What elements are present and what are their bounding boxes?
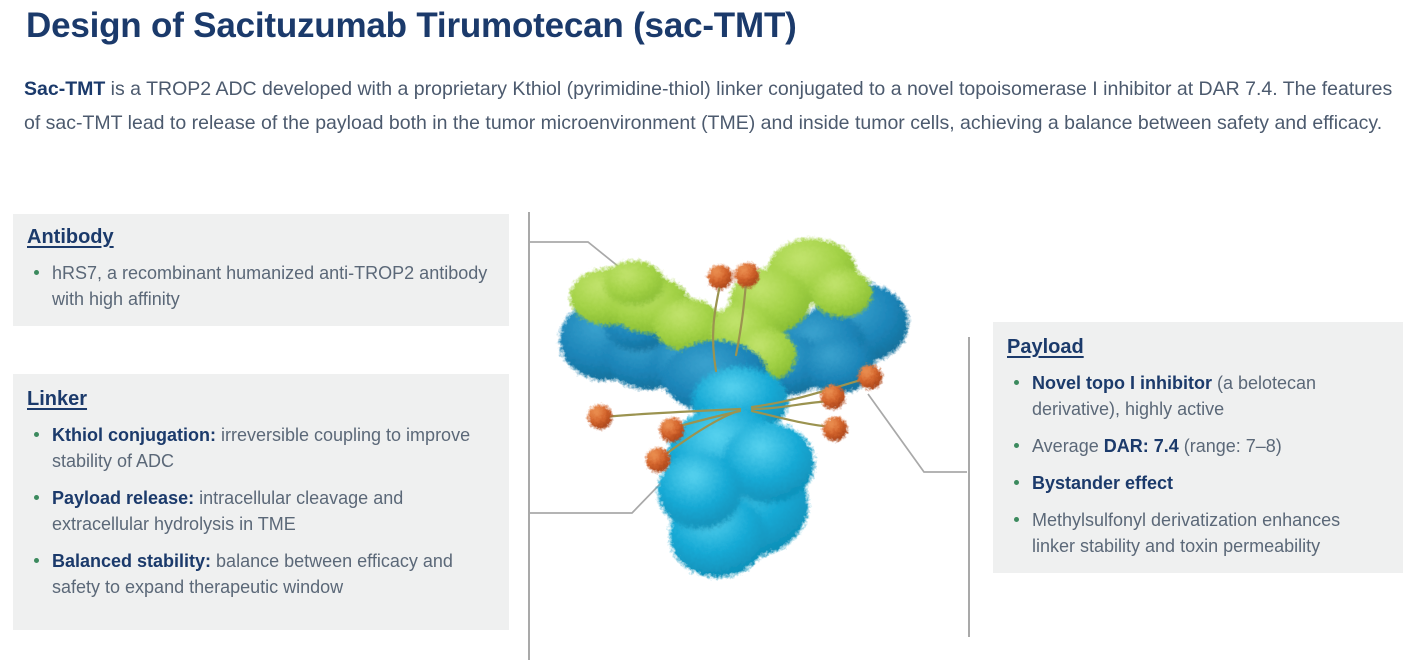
- payload-sphere: [646, 448, 670, 472]
- list-item: hRS7, a recombinant humanized anti-TROP2…: [27, 260, 491, 312]
- payload-info-box: Payload Novel topo I inhibitor (a belote…: [993, 322, 1403, 573]
- bullet-dot-icon: [1014, 480, 1019, 485]
- bullet-dot-icon: [1014, 443, 1019, 448]
- bullet-inline-term: DAR: 7.4: [1104, 436, 1179, 456]
- list-item: Average DAR: 7.4 (range: 7–8): [1007, 433, 1387, 459]
- antibody-bullet-list: hRS7, a recombinant humanized anti-TROP2…: [27, 260, 491, 312]
- bullet-text-suffix: (range: 7–8): [1179, 436, 1282, 456]
- page-title: Design of Sacituzumab Tirumotecan (sac-T…: [26, 6, 797, 46]
- list-item: Methylsulfonyl derivatization enhances l…: [1007, 507, 1387, 559]
- bullet-lead-term: Balanced stability:: [52, 551, 211, 571]
- linker-bullet-list: Kthiol conjugation: irreversible couplin…: [27, 422, 491, 600]
- list-item: Balanced stability: balance between effi…: [27, 548, 491, 600]
- intro-paragraph: Sac-TMT is a TROP2 ADC developed with a …: [24, 72, 1396, 140]
- list-item: Payload release: intracellular cleavage …: [27, 485, 491, 537]
- bullet-dot-icon: [1014, 517, 1019, 522]
- bullet-text: hRS7, a recombinant humanized anti-TROP2…: [52, 263, 487, 309]
- bullet-lead-term: Kthiol conjugation:: [52, 425, 216, 445]
- intro-lead-term: Sac-TMT: [24, 78, 105, 100]
- payload-bullet-list: Novel topo I inhibitor (a belotecan deri…: [1007, 370, 1387, 559]
- payload-sphere: [660, 418, 684, 442]
- bullet-lead-term: Novel topo I inhibitor: [1032, 373, 1212, 393]
- bullet-dot-icon: [34, 432, 39, 437]
- bullet-lead-term: Payload release:: [52, 488, 194, 508]
- payload-sphere: [735, 263, 759, 287]
- list-item: Novel topo I inhibitor (a belotecan deri…: [1007, 370, 1387, 422]
- payload-heading: Payload: [1007, 336, 1084, 359]
- bullet-dot-icon: [34, 270, 39, 275]
- payload-sphere: [823, 417, 847, 441]
- payload-sphere: [588, 405, 612, 429]
- antibody-info-box: Antibody hRS7, a recombinant humanized a…: [13, 214, 509, 326]
- antibody-structure-figure: [530, 205, 970, 625]
- intro-body-text: is a TROP2 ADC developed with a propriet…: [24, 78, 1392, 134]
- list-item: Bystander effect: [1007, 470, 1387, 496]
- linker-info-box: Linker Kthiol conjugation: irreversible …: [13, 374, 509, 630]
- linker-heading: Linker: [27, 388, 87, 411]
- bullet-lead-term: Bystander effect: [1032, 473, 1173, 493]
- bullet-text-prefix: Average: [1032, 436, 1104, 456]
- bullet-dot-icon: [34, 495, 39, 500]
- antibody-heading: Antibody: [27, 226, 114, 249]
- bullet-dot-icon: [1014, 380, 1019, 385]
- bullet-dot-icon: [34, 558, 39, 563]
- payload-sphere: [708, 265, 732, 289]
- payload-sphere: [821, 385, 845, 409]
- bullet-text: Methylsulfonyl derivatization enhances l…: [1032, 510, 1340, 556]
- list-item: Kthiol conjugation: irreversible couplin…: [27, 422, 491, 474]
- payload-sphere: [858, 365, 882, 389]
